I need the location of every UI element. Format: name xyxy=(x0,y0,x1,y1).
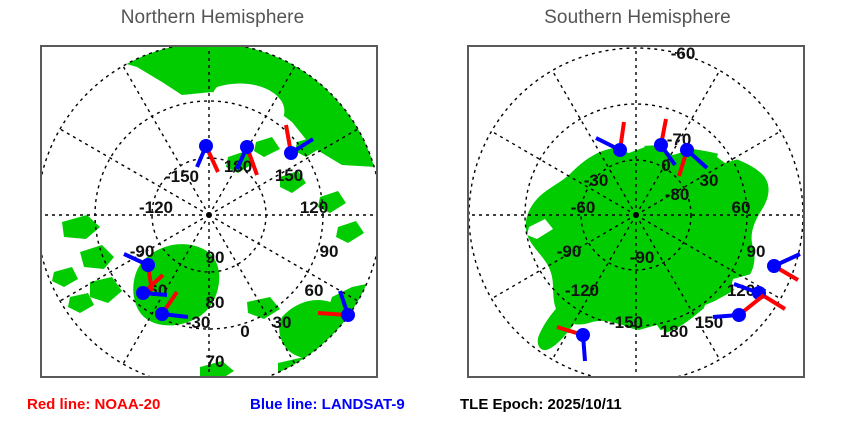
grid-label: 60 xyxy=(732,198,751,217)
grid-label-lat: 80 xyxy=(206,293,225,312)
grid-label: 90 xyxy=(320,242,339,261)
page-title-south: Southern Hemisphere xyxy=(425,7,850,29)
grid-label: 30 xyxy=(273,313,292,332)
grid-label: 0 xyxy=(240,322,249,341)
grid-label: -30 xyxy=(584,171,609,190)
legend-red-line: Red line: NOAA-20 xyxy=(27,396,160,413)
page-title-north: Northern Hemisphere xyxy=(0,7,425,29)
legend-tle-epoch: TLE Epoch: 2025/10/11 xyxy=(460,396,622,413)
grid-label: -120 xyxy=(565,281,599,300)
grid-label: 180 xyxy=(660,322,688,341)
grid-label: -30 xyxy=(186,313,211,332)
grid-label: -120 xyxy=(139,198,173,217)
grid-label: -150 xyxy=(609,313,643,332)
legend: Red line: NOAA-20 Blue line: LANDSAT-9 T… xyxy=(0,396,850,420)
south-polar-plot[interactable]: -60 -30 0 30 -70 -80 60 -60 -90 90 -120 … xyxy=(467,45,805,378)
grid-label-center: -90 xyxy=(630,248,655,267)
grid-label: 60 xyxy=(305,281,324,300)
grid-label: 30 xyxy=(700,171,719,190)
grid-label: -150 xyxy=(165,167,199,186)
grid-label: -60 xyxy=(571,198,596,217)
grid-label: 150 xyxy=(275,166,303,185)
grid-label: 120 xyxy=(300,198,328,217)
grid-label-lat: 70 xyxy=(206,352,225,371)
legend-blue-line: Blue line: LANDSAT-9 xyxy=(250,396,405,413)
grid-label-lat: -80 xyxy=(665,185,690,204)
grid-label: -90 xyxy=(557,242,582,261)
grid-label-center: 90 xyxy=(206,248,225,267)
grid-label: 90 xyxy=(747,242,766,261)
grid-label: -60 xyxy=(671,47,696,63)
south-plot-svg: -60 -30 0 30 -70 -80 60 -60 -90 90 -120 … xyxy=(469,47,803,376)
north-plot-svg: -150 180 150 -120 120 -90 90 -60 60 -30 … xyxy=(42,47,376,376)
north-polar-plot[interactable]: -150 180 150 -120 120 -90 90 -60 60 -30 … xyxy=(40,45,378,378)
